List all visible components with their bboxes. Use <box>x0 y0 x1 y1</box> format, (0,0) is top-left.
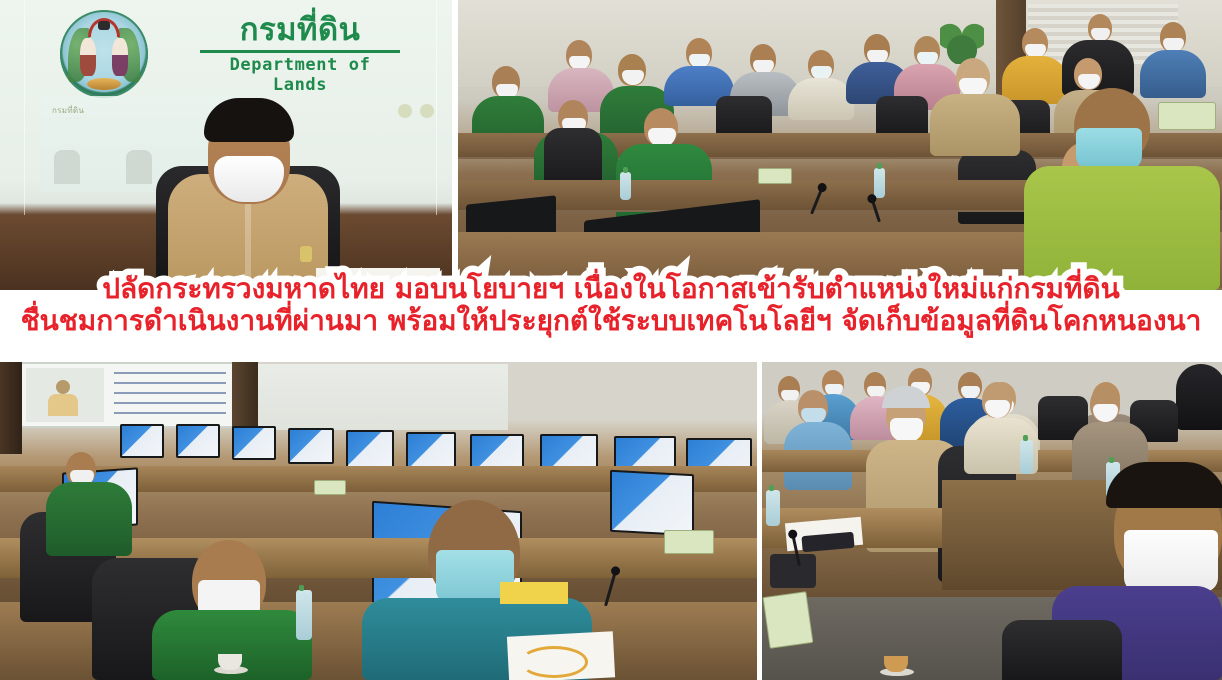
water-bottle-icon <box>620 172 631 200</box>
monitor-screen <box>122 426 162 456</box>
wall-seam <box>24 0 25 215</box>
projection-badge-icon <box>398 104 412 118</box>
face-mask-icon <box>1076 128 1142 170</box>
attendee-hair <box>1106 462 1222 508</box>
headline-line-1-text: ปลัดกระทรวงมหาดไทย มอบนโยบายฯ เนื่องในโอ… <box>102 272 1119 305</box>
back-partition <box>258 364 508 430</box>
projection-figure <box>126 150 152 184</box>
headline-line-2: ชื่นชมการดำเนินงานที่ผ่านมา พร้อมให้ประย… <box>0 306 1222 336</box>
panel-attendees <box>762 362 1222 680</box>
photo-collage: กรมที่ดิน Department of Lands กรมที่ดิน … <box>0 0 1222 680</box>
security-staff <box>1176 364 1222 430</box>
seal-figure-right-icon <box>112 38 128 76</box>
face-mask-icon <box>1124 530 1218 592</box>
name-plate <box>1158 102 1216 130</box>
headline-line-2-text: ชื่นชมการดำเนินงานที่ผ่านมา พร้อมให้ประย… <box>21 304 1202 337</box>
coffee-cup <box>218 654 242 670</box>
water-bottle-icon <box>1020 440 1033 474</box>
projection-badge-icon <box>420 104 434 118</box>
panel-audience-rows <box>458 0 1222 290</box>
panel-conference-table <box>0 362 757 680</box>
name-plate <box>758 168 792 184</box>
attendee-body <box>930 94 1020 156</box>
name-plate <box>314 480 346 495</box>
name-plate <box>664 530 714 554</box>
brand-name-thai: กรมที่ดิน <box>200 14 400 47</box>
monitor-screen <box>290 430 332 462</box>
water-bottle-icon <box>296 590 312 640</box>
uniform-badge-icon <box>300 246 312 262</box>
empty-chair <box>876 96 928 138</box>
highlight-paper <box>500 582 568 604</box>
desk-monitor <box>232 426 276 460</box>
headline-line-1: ปลัดกระทรวงมหาดไทย มอบนโยบายฯ เนื่องในโอ… <box>0 274 1222 304</box>
monitor-screen <box>612 472 692 534</box>
slide-text-block <box>114 368 226 418</box>
brand-divider <box>200 50 400 53</box>
wall-seam <box>436 0 437 215</box>
projection-figure <box>54 150 80 184</box>
monitor-screen <box>234 428 274 458</box>
monitor-screen <box>178 426 218 456</box>
conference-mic-base <box>770 554 816 588</box>
monitor-screen <box>408 434 454 470</box>
water-bottle-icon <box>874 168 885 198</box>
video-feed-speaker-head <box>56 380 70 394</box>
desk-monitor <box>120 424 164 458</box>
document-graphic <box>520 646 588 678</box>
speaker-hair <box>204 98 294 142</box>
coffee-cup <box>884 656 908 672</box>
headline-banner: ปลัดกระทรวงมหาดไทย มอบนโยบายฯ เนื่องในโอ… <box>0 274 1222 336</box>
seal-figure-left-icon <box>80 38 96 76</box>
department-of-lands-seal-icon <box>60 10 148 98</box>
panel-press-conference: กรมที่ดิน Department of Lands กรมที่ดิน … <box>0 0 452 290</box>
video-feed-speaker-body <box>48 394 78 416</box>
room-corner-wall <box>0 362 22 454</box>
desk-monitor <box>346 430 394 468</box>
potted-plant-icon <box>940 18 984 64</box>
attendee-body <box>788 78 854 120</box>
name-plate <box>763 591 814 649</box>
brand-name-english: Department of Lands <box>200 55 400 95</box>
face-mask-icon <box>890 418 923 442</box>
desk-monitor <box>610 470 694 536</box>
monitor-screen <box>348 432 392 466</box>
desk-monitor <box>176 424 220 458</box>
desk-monitor <box>288 428 334 464</box>
water-bottle-icon <box>766 490 780 526</box>
attendee-body <box>1140 50 1206 98</box>
seal-base-icon <box>87 78 121 90</box>
chair-armrest <box>1002 620 1122 680</box>
department-of-lands-wordmark: กรมที่ดิน Department of Lands <box>200 14 400 95</box>
attendee-body <box>1002 56 1068 104</box>
attendee-body <box>46 482 132 556</box>
seal-horse-icon <box>98 21 110 30</box>
projection-wall-screen <box>22 364 232 426</box>
projection-screen-subtitle: · · · · <box>66 116 79 122</box>
